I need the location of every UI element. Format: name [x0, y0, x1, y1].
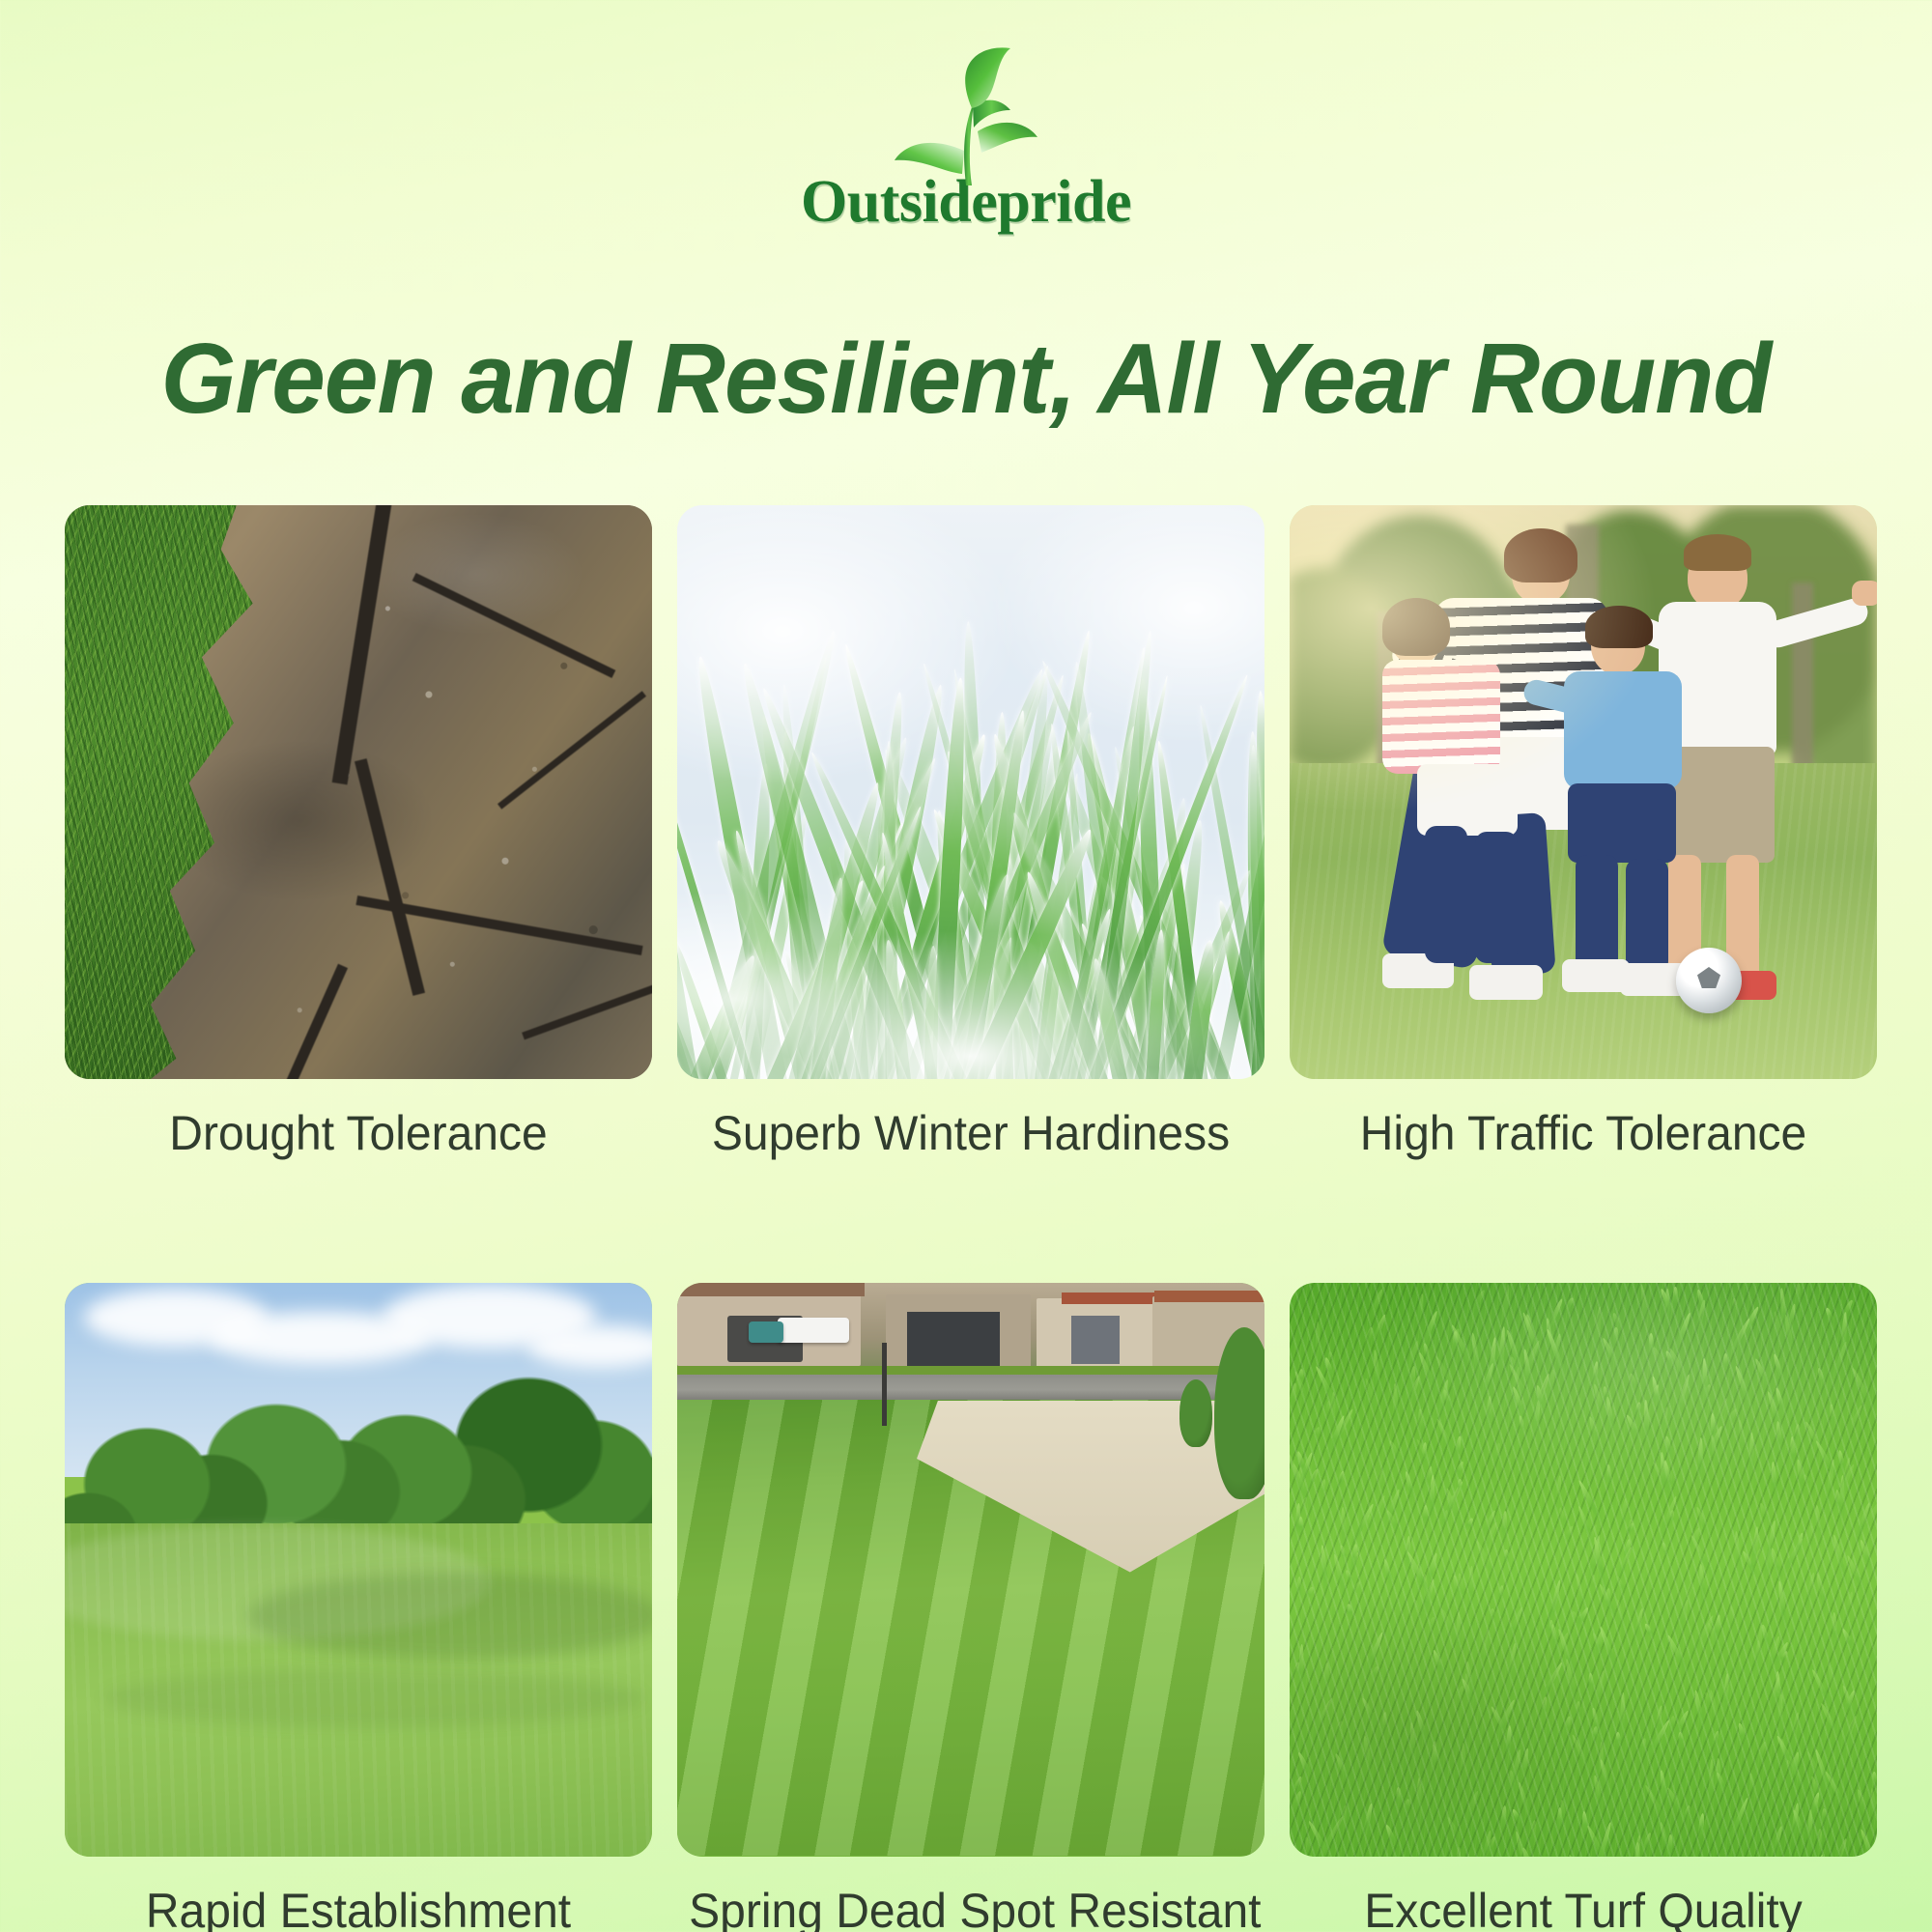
feature-caption: Drought Tolerance	[76, 1108, 640, 1159]
mother-hair	[1504, 528, 1577, 582]
feature-card-rapid-establishment: Rapid Establishment	[65, 1283, 652, 1932]
feature-caption: Superb Winter Hardiness	[689, 1108, 1253, 1159]
feature-card-spring-dead-spot: Spring Dead Spot Resistant	[677, 1283, 1264, 1932]
street-layer	[677, 1375, 1264, 1401]
garage-door	[907, 1312, 1000, 1366]
feature-image-turf-quality	[1290, 1283, 1877, 1857]
sprout-leaf-icon	[821, 43, 1111, 187]
feature-caption: High Traffic Tolerance	[1301, 1108, 1865, 1159]
feature-image-winter-hardiness	[677, 505, 1264, 1079]
father-hand-right	[1852, 581, 1877, 606]
garage-door	[1071, 1316, 1120, 1364]
daughter-shorts	[1417, 764, 1518, 836]
son-shirt	[1564, 671, 1682, 789]
feature-card-winter-hardiness: Superb Winter Hardiness	[677, 505, 1264, 1159]
daughter-leg-left	[1425, 826, 1467, 963]
son-leg-left	[1576, 855, 1618, 971]
fairway-shadow	[248, 1573, 652, 1660]
house-roof	[677, 1283, 865, 1296]
son-shorts	[1568, 783, 1676, 863]
parked-vehicle	[749, 1321, 783, 1343]
feature-caption: Rapid Establishment	[76, 1886, 640, 1932]
mother-shoe-right	[1469, 965, 1543, 1000]
feature-image-rapid-establishment	[65, 1283, 652, 1857]
soccer-ball	[1676, 948, 1742, 1013]
feature-card-drought-tolerance: Drought Tolerance	[65, 505, 652, 1159]
mailbox-post	[882, 1343, 887, 1426]
house-roof	[1154, 1291, 1264, 1302]
daughter-leg-right	[1475, 832, 1518, 963]
page-title: Green and Resilient, All Year Round	[29, 328, 1903, 428]
son-hair	[1585, 606, 1653, 648]
son-leg-right	[1626, 859, 1668, 973]
fairway-shadow	[103, 1669, 644, 1727]
brand-header: Outsidepride	[0, 43, 1932, 245]
feature-image-drought-tolerance	[65, 505, 652, 1079]
feature-grid: Drought Tolerance Superb Winter Hardines…	[65, 505, 1869, 1932]
daughter-shirt	[1382, 660, 1500, 774]
daughter-hair	[1382, 598, 1450, 656]
turf-light-overlay	[1290, 1283, 1877, 1857]
feature-image-spring-dead-spot	[677, 1283, 1264, 1857]
cloud	[528, 1325, 652, 1368]
feature-caption: Spring Dead Spot Resistant	[689, 1886, 1253, 1932]
feature-card-turf-quality: Excellent Turf Quality	[1290, 1283, 1877, 1932]
shrub	[1214, 1327, 1264, 1499]
feature-caption: Excellent Turf Quality	[1301, 1886, 1865, 1932]
father-hair	[1684, 534, 1751, 571]
feature-card-traffic-tolerance: High Traffic Tolerance	[1290, 505, 1877, 1159]
parked-truck	[778, 1318, 849, 1343]
shrub	[1179, 1379, 1212, 1447]
feature-image-traffic-tolerance	[1290, 505, 1877, 1079]
